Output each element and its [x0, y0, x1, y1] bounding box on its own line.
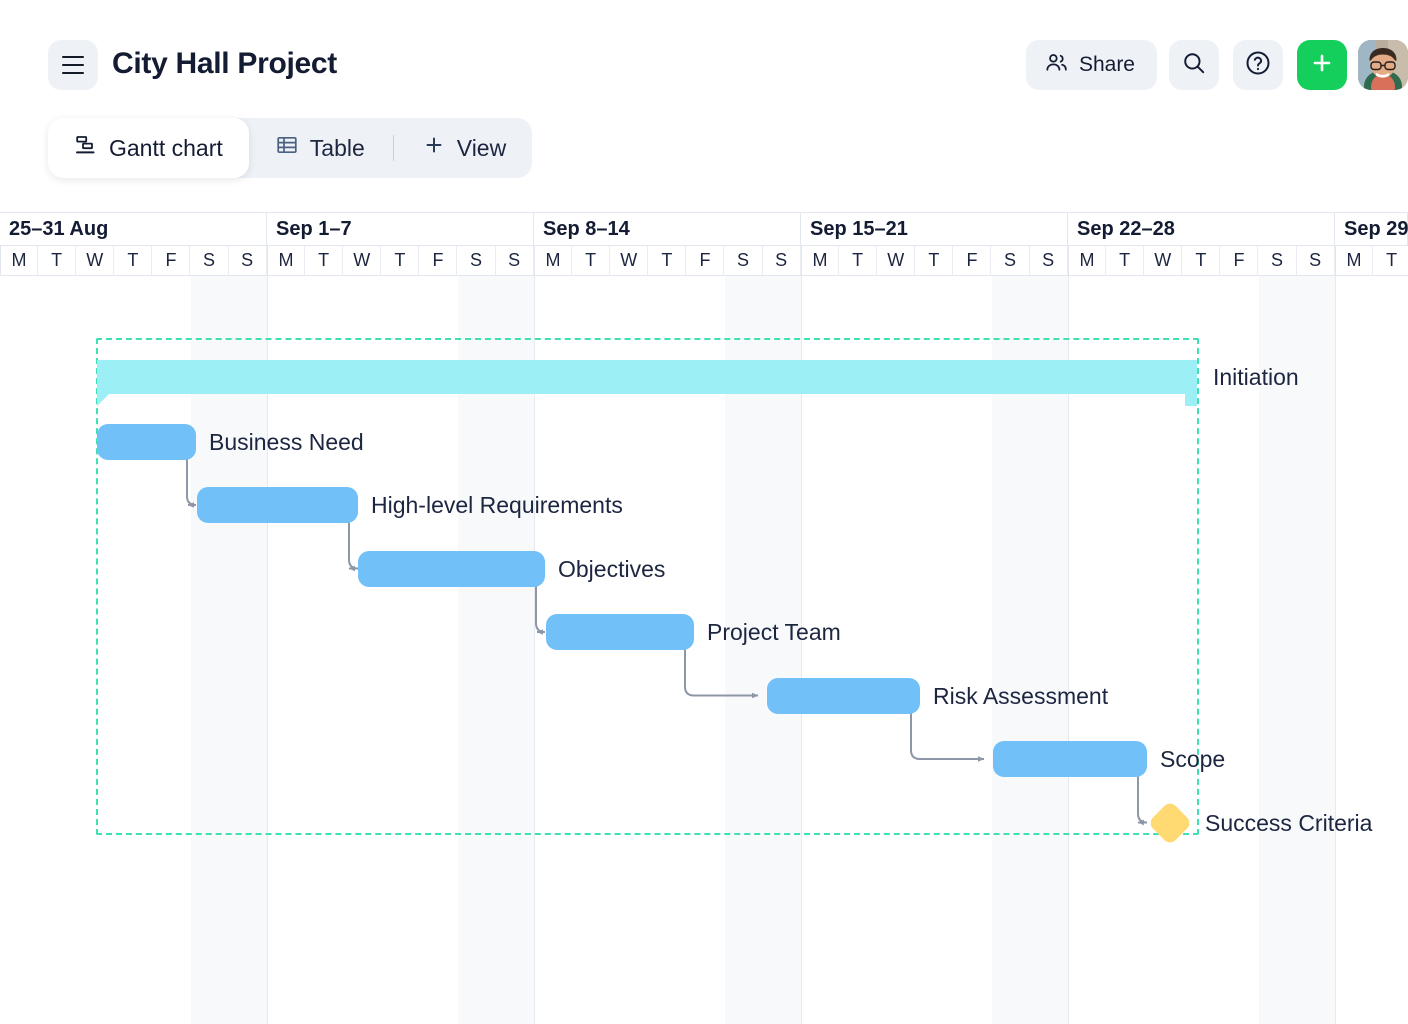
task-bar[interactable]: [767, 678, 920, 714]
tab-add-view[interactable]: View: [396, 118, 532, 178]
people-icon: [1044, 50, 1069, 81]
timeline-week-label: 25–31 Aug: [0, 213, 267, 246]
timeline-day-cell: M: [1335, 246, 1373, 275]
task-label: Project Team: [707, 618, 841, 646]
timeline-day-header: MTWTFSSMTWTFSSMTWTFSSMTWTFSSMTWTFSSMT: [0, 246, 1408, 276]
timeline-day-cell: S: [763, 246, 801, 275]
tab-add-view-label: View: [457, 135, 506, 162]
timeline-day-cell: W: [877, 246, 915, 275]
plus-icon: [1309, 50, 1335, 81]
search-button[interactable]: [1169, 40, 1219, 90]
timeline-day-cell: S: [458, 246, 496, 275]
view-tabs: Gantt chart Table View: [48, 118, 532, 178]
timeline-week-label: Sep 1–7: [267, 213, 534, 246]
search-icon: [1181, 50, 1207, 81]
gantt-chart-icon: [74, 133, 98, 163]
add-button[interactable]: [1297, 40, 1347, 90]
timeline-day-cell: T: [839, 246, 877, 275]
summary-bar-tail: [1185, 394, 1197, 406]
timeline-day-cell: S: [496, 246, 534, 275]
timeline-day-cell: T: [648, 246, 686, 275]
gantt-canvas[interactable]: InitiationBusiness NeedHigh-level Requir…: [0, 276, 1408, 1024]
share-button-label: Share: [1079, 53, 1135, 77]
dependency-arrow: [536, 585, 545, 633]
summary-bar-initiation[interactable]: [97, 360, 1197, 394]
task-bar[interactable]: [97, 424, 196, 460]
timeline-day-cell: F: [953, 246, 991, 275]
timeline-day-cell: S: [191, 246, 229, 275]
timeline-day-cell: W: [343, 246, 381, 275]
task-label: Scope: [1160, 745, 1225, 773]
timeline-day-cell: F: [152, 246, 190, 275]
timeline-day-cell: F: [419, 246, 457, 275]
timeline-day-cell: T: [572, 246, 610, 275]
task-label: Business Need: [209, 428, 364, 456]
dependency-arrow: [911, 712, 984, 760]
timeline-day-cell: T: [1106, 246, 1144, 275]
tabs-divider: [393, 135, 394, 161]
timeline-day-cell: T: [1373, 246, 1408, 275]
hamburger-menu-icon: [62, 56, 84, 75]
timeline-week-label: Sep 15–21: [801, 213, 1068, 246]
timeline-week-label: Sep 22–28: [1068, 213, 1335, 246]
timeline-day-cell: T: [381, 246, 419, 275]
help-button[interactable]: [1233, 40, 1283, 90]
task-bar[interactable]: [358, 551, 545, 587]
summary-bar-label: Initiation: [1213, 363, 1299, 391]
weekend-column: [1297, 276, 1335, 1024]
app-header: City Hall Project Share: [0, 0, 1408, 110]
timeline-day-cell: S: [1259, 246, 1297, 275]
timeline-day-cell: S: [1030, 246, 1068, 275]
page-title: City Hall Project: [112, 42, 337, 86]
timeline-day-cell: M: [0, 246, 38, 275]
task-bar[interactable]: [197, 487, 358, 523]
timeline-day-cell: M: [1068, 246, 1106, 275]
task-label: High-level Requirements: [371, 491, 623, 519]
timeline-day-cell: M: [801, 246, 839, 275]
summary-bar-tail: [97, 394, 109, 406]
milestone-marker[interactable]: [1147, 800, 1192, 845]
timeline-day-cell: F: [1220, 246, 1258, 275]
timeline-day-cell: M: [267, 246, 305, 275]
timeline-week-label: Sep 29: [1335, 213, 1408, 246]
week-separator-line: [1335, 276, 1336, 1024]
timeline-week-header: 25–31 AugSep 1–7Sep 8–14Sep 15–21Sep 22–…: [0, 212, 1408, 246]
task-label: Objectives: [558, 555, 665, 583]
table-icon: [275, 133, 299, 163]
tab-table[interactable]: Table: [249, 118, 391, 178]
tab-table-label: Table: [310, 135, 365, 162]
timeline-week-label: Sep 8–14: [534, 213, 801, 246]
task-label: Risk Assessment: [933, 682, 1108, 710]
hamburger-menu-button[interactable]: [48, 40, 98, 90]
timeline-day-cell: T: [38, 246, 76, 275]
timeline-day-cell: T: [114, 246, 152, 275]
timeline-day-cell: W: [1144, 246, 1182, 275]
timeline-day-cell: S: [992, 246, 1030, 275]
plus-icon: [422, 133, 446, 163]
share-button[interactable]: Share: [1026, 40, 1157, 90]
timeline-day-cell: S: [1297, 246, 1335, 275]
app-window: City Hall Project Share: [0, 0, 1408, 1024]
avatar[interactable]: [1358, 40, 1408, 90]
timeline-day-cell: S: [229, 246, 267, 275]
tab-gantt-chart[interactable]: Gantt chart: [48, 118, 249, 178]
gantt-timeline: 25–31 AugSep 1–7Sep 8–14Sep 15–21Sep 22–…: [0, 212, 1408, 1024]
task-bar[interactable]: [546, 614, 694, 650]
timeline-day-cell: T: [305, 246, 343, 275]
timeline-day-cell: W: [610, 246, 648, 275]
timeline-day-cell: T: [915, 246, 953, 275]
task-bar[interactable]: [993, 741, 1147, 777]
timeline-day-cell: T: [1182, 246, 1220, 275]
timeline-day-cell: M: [534, 246, 572, 275]
timeline-day-cell: W: [76, 246, 114, 275]
tab-gantt-chart-label: Gantt chart: [109, 135, 223, 162]
task-label: Success Criteria: [1205, 809, 1372, 837]
question-circle-icon: [1244, 49, 1272, 82]
dependency-arrow: [349, 521, 358, 569]
timeline-day-cell: S: [725, 246, 763, 275]
avatar-image: [1358, 40, 1408, 90]
dependency-arrow: [1138, 775, 1147, 823]
timeline-day-cell: F: [686, 246, 724, 275]
